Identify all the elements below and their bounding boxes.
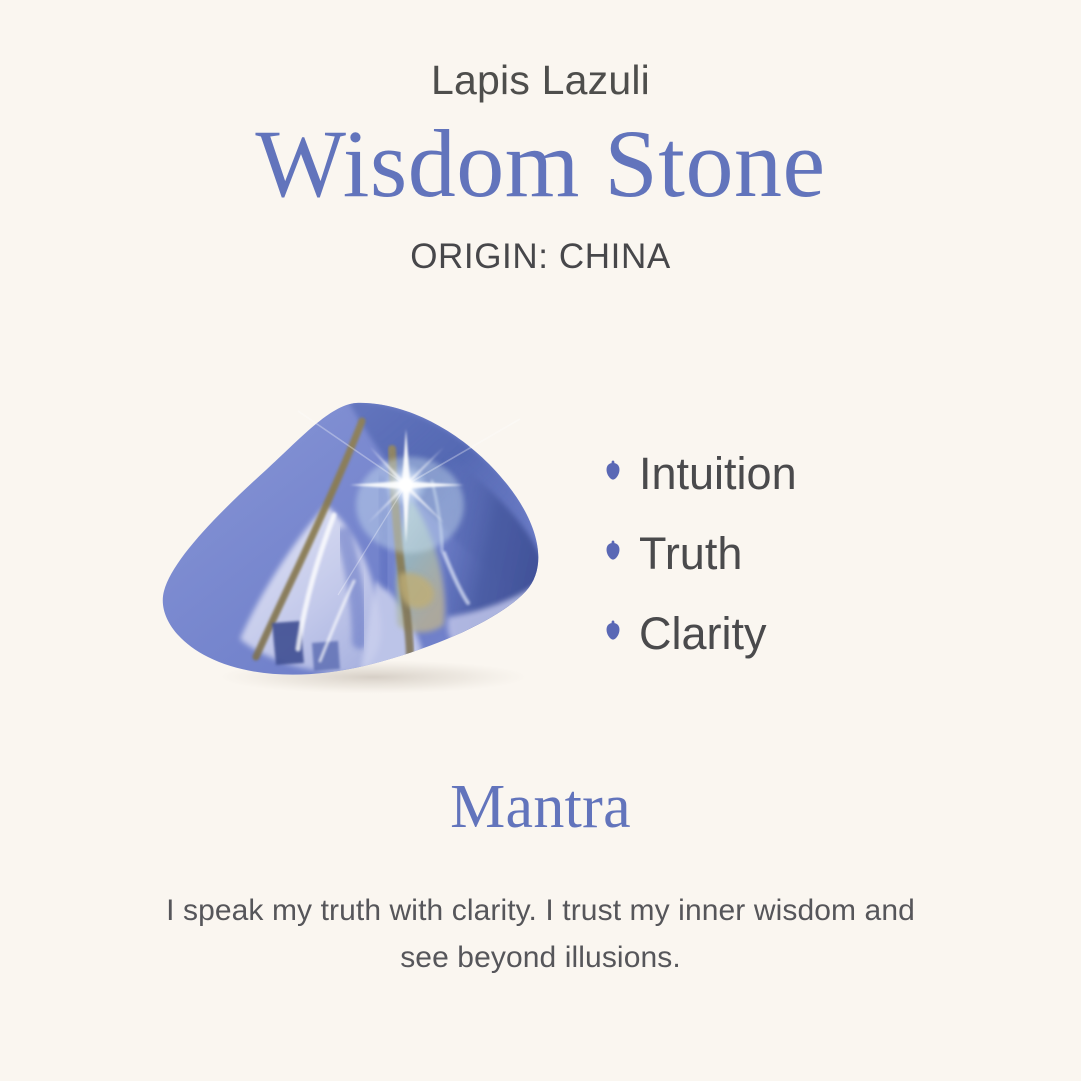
lapis-lazuli-gemstone-icon bbox=[148, 385, 568, 715]
gem-bullet-icon bbox=[600, 538, 626, 568]
gemstone-illustration bbox=[148, 385, 568, 715]
list-item: Clarity bbox=[600, 593, 1020, 673]
mantra-block: Mantra I speak my truth with clarity. I … bbox=[0, 775, 1081, 981]
mantra-text: I speak my truth with clarity. I trust m… bbox=[161, 840, 921, 981]
origin-label: ORIGIN: CHINA bbox=[0, 213, 1081, 274]
attribute-label: Intuition bbox=[639, 451, 797, 496]
gemstone-info-card: Lapis Lazuli Wisdom Stone ORIGIN: CHINA bbox=[0, 0, 1081, 1081]
mantra-heading: Mantra bbox=[0, 775, 1081, 840]
stone-name-eyebrow: Lapis Lazuli bbox=[0, 0, 1081, 101]
page-title: Wisdom Stone bbox=[0, 101, 1081, 213]
list-item: Truth bbox=[600, 513, 1020, 593]
attribute-label: Truth bbox=[639, 531, 742, 576]
gem-bullet-icon bbox=[600, 618, 626, 648]
attributes-list: Intuition Truth Clarity bbox=[600, 433, 1020, 673]
header-block: Lapis Lazuli Wisdom Stone ORIGIN: CHINA bbox=[0, 0, 1081, 274]
stone-body bbox=[148, 385, 568, 715]
gem-bullet-icon bbox=[600, 458, 626, 488]
attribute-label: Clarity bbox=[639, 611, 767, 656]
list-item: Intuition bbox=[600, 433, 1020, 513]
stone-and-attributes-row: Intuition Truth Clarity bbox=[0, 385, 1081, 725]
